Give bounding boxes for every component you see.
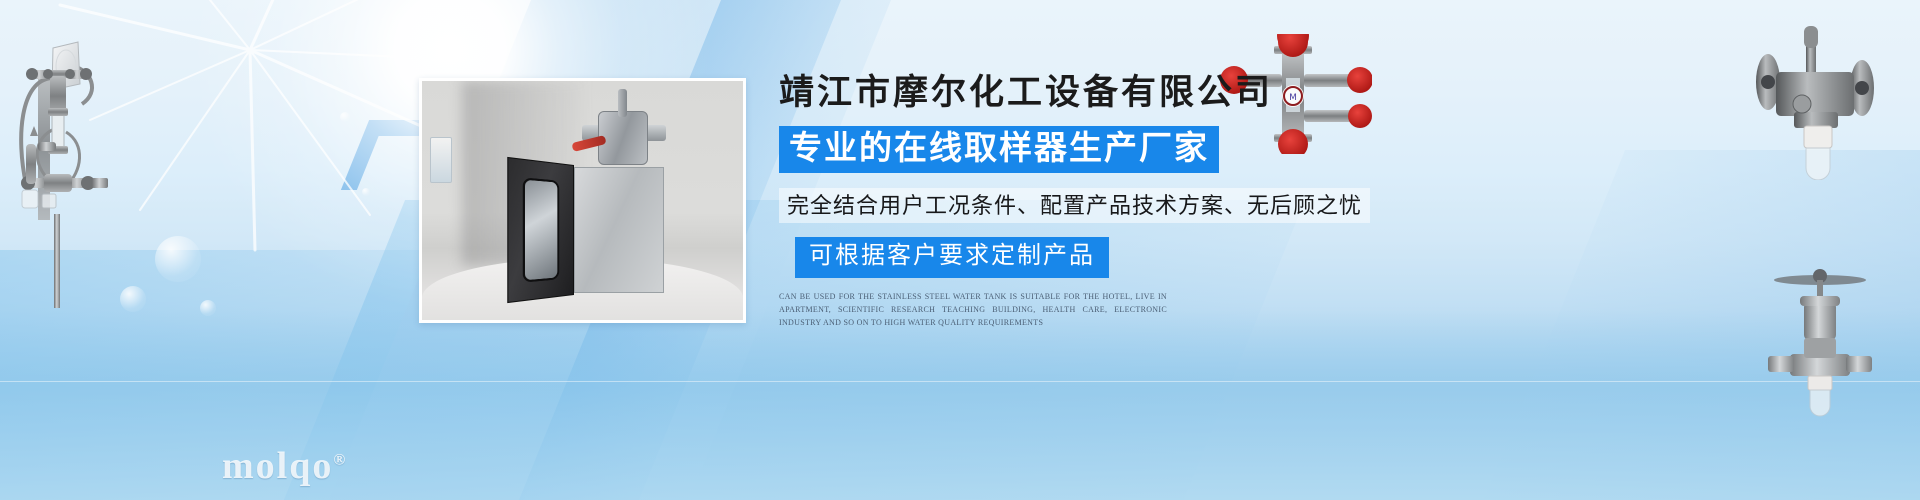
device-right-flanged-valve-image	[1740, 20, 1890, 180]
subheadline: 完全结合用户工况条件、配置产品技术方案、无后顾之忧	[779, 188, 1370, 224]
watermark-text: molqo	[222, 445, 333, 487]
water-horizon-line	[0, 381, 1920, 382]
custom-order-badge: 可根据客户要求定制产品	[795, 237, 1109, 277]
bubble	[362, 188, 370, 196]
bubble	[340, 112, 350, 122]
headline-banner: 专业的在线取样器生产厂家	[779, 126, 1219, 173]
watermark-registered-mark: ®	[333, 451, 347, 468]
fineprint-description: CAN BE USED FOR THE STAINLESS STEEL WATE…	[779, 290, 1167, 329]
device-right-sample-valve-image	[1760, 250, 1880, 420]
product-photo	[419, 78, 746, 323]
promo-banner: M	[0, 0, 1920, 500]
copy-block: 靖江市摩尔化工设备有限公司 专业的在线取样器生产厂家 完全结合用户工况条件、配置…	[779, 72, 1399, 329]
device-left-sampler-image	[8, 18, 188, 308]
bubble	[200, 300, 216, 316]
watermark-logo: molqo®	[222, 444, 347, 488]
company-name: 靖江市摩尔化工设备有限公司	[779, 72, 1399, 114]
